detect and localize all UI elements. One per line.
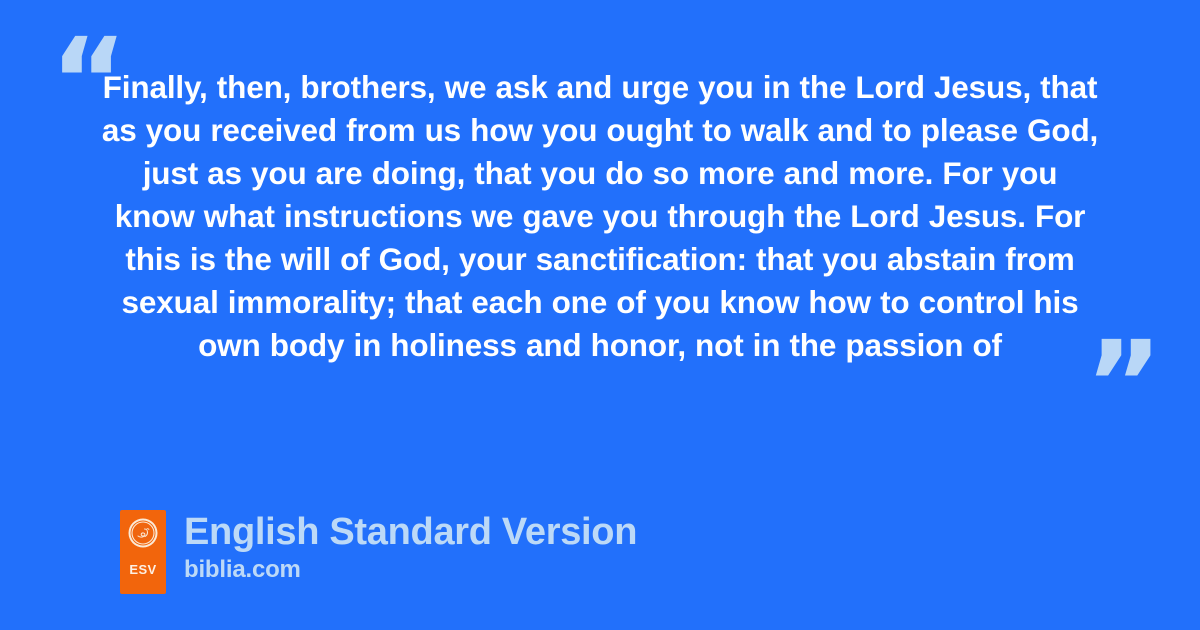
esv-logo: ESV [120,510,166,594]
bible-verse-card: “ Finally, then, brothers, we ask and ur… [0,0,1200,630]
attribution-text-block: English Standard Version biblia.com [184,510,637,584]
site-url-label: biblia.com [184,556,637,584]
esv-abbreviation-label: ESV [129,563,156,576]
verse-text: Finally, then, brothers, we ask and urge… [100,66,1100,367]
attribution-footer: ESV English Standard Version biblia.com [120,510,637,594]
bible-version-name: English Standard Version [184,510,637,554]
closing-quote-icon: ” [1085,325,1161,443]
esv-seal-icon [128,518,158,548]
